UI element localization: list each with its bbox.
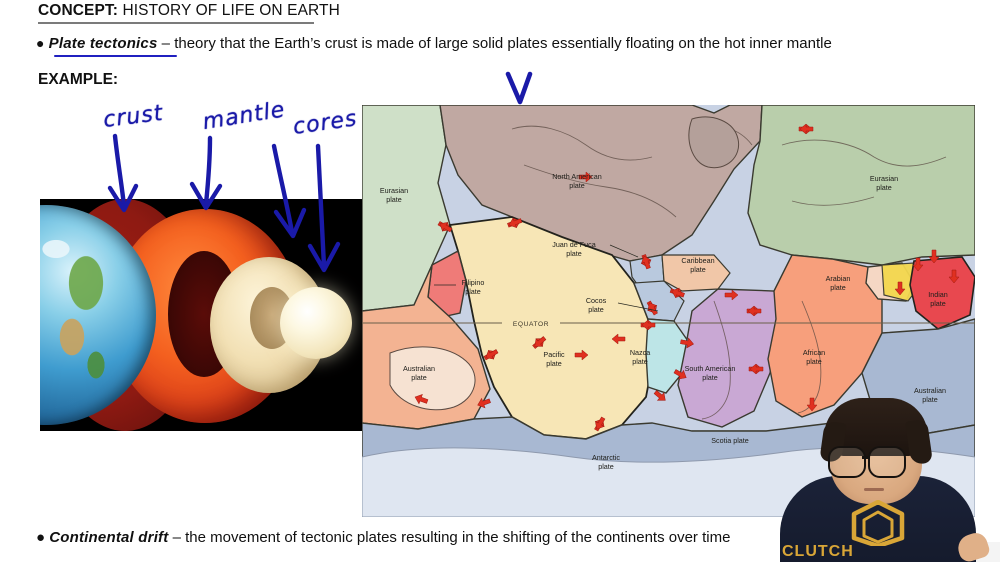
bullet-term-continental-drift: Continental drift: [49, 529, 168, 546]
bullet-plate-tectonics: ● Plate tectonics – theory that the Eart…: [36, 35, 832, 52]
concept-keyword: CONCEPT:: [38, 2, 118, 19]
earth-inner-core-layer: [280, 287, 352, 359]
instructor-mouth: [864, 488, 884, 491]
glasses-left-lens-icon: [828, 446, 866, 478]
ink-arrow-core-inner-icon: [300, 140, 370, 290]
equator-label: EQUATOR: [513, 321, 549, 328]
bullet-term-plate-tectonics: Plate tectonics: [49, 35, 158, 52]
concept-underline: [38, 22, 314, 24]
glasses-bridge-icon: [862, 456, 870, 459]
bullet-definition-plate-tectonics: – theory that the Earth’s crust is made …: [158, 35, 832, 52]
bullet-marker: ●: [36, 35, 44, 51]
instructor-video-overlay[interactable]: CLUTCH: [772, 392, 1000, 562]
handwritten-label-mantle: mantle: [201, 97, 287, 135]
slide-canvas: CONCEPT: HISTORY OF LIFE ON EARTH ● Plat…: [0, 0, 1000, 562]
plate-label-pacific: Pacificplate: [543, 350, 565, 368]
page-title: CONCEPT: HISTORY OF LIFE ON EARTH: [38, 2, 340, 20]
ink-arrow-map-pointer-icon: [500, 70, 544, 110]
plate-eurasian-east: [748, 105, 975, 265]
plate-label-cocos: Cocosplate: [586, 296, 607, 314]
example-label: EXAMPLE:: [38, 71, 118, 89]
term-underline-blue: [54, 55, 177, 57]
bullet-definition-continental-drift: – the movement of tectonic plates result…: [168, 529, 730, 546]
concept-title: HISTORY OF LIFE ON EARTH: [118, 2, 340, 19]
bullet-continental-drift: ● Continental drift – the movement of te…: [36, 529, 730, 546]
plate-label-indian: Indianplate: [928, 290, 948, 308]
handwritten-label-crust: crust: [102, 101, 165, 133]
ink-arrow-crust-icon: [90, 130, 170, 220]
plate-label-scotia: Scotia plate: [711, 436, 749, 445]
bullet-marker-2: ●: [36, 529, 45, 546]
ink-arrow-mantle-icon: [180, 132, 260, 220]
handwritten-label-cores: cores: [292, 106, 359, 140]
shirt-text-label: CLUTCH: [782, 543, 854, 560]
shirt-text: CLUTCH: [776, 536, 976, 562]
plate-label-nazca: Nazcaplate: [630, 348, 650, 366]
glasses-right-lens-icon: [868, 446, 906, 478]
